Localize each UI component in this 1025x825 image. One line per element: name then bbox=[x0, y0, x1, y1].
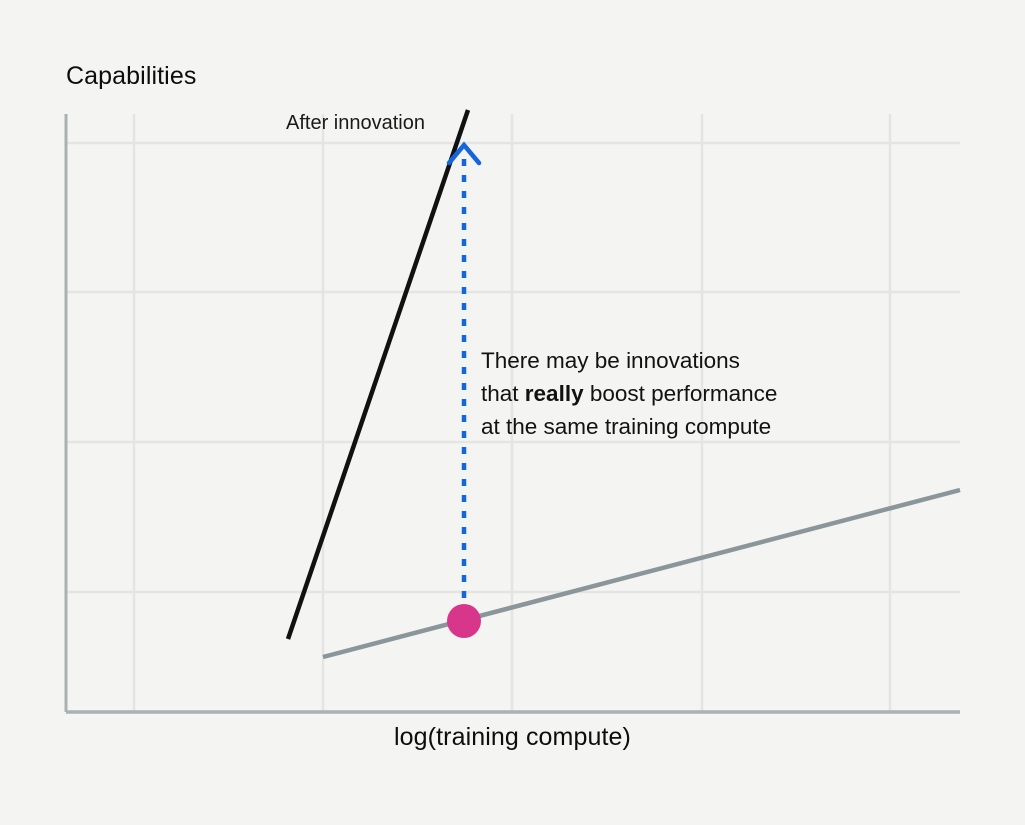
scaling-law-figure: Capabilities log(training compute) After… bbox=[0, 0, 1025, 820]
after-innovation-line bbox=[288, 110, 468, 639]
callout-line-2-post: boost performance bbox=[584, 381, 778, 406]
x-axis-title: log(training compute) bbox=[0, 723, 1025, 752]
callout-line-2: that really boost performance bbox=[481, 377, 777, 410]
callout-emphasis: really bbox=[525, 381, 584, 406]
callout-line-3: at the same training compute bbox=[481, 410, 777, 443]
innovation-callout: There may be innovations that really boo… bbox=[481, 344, 777, 443]
y-axis-title: Capabilities bbox=[66, 62, 196, 91]
current-performance-point bbox=[447, 604, 481, 638]
baseline-trend-line bbox=[323, 490, 960, 657]
after-innovation-label: After innovation bbox=[286, 112, 425, 135]
callout-line-2-pre: that bbox=[481, 381, 525, 406]
callout-line-1: There may be innovations bbox=[481, 344, 777, 377]
